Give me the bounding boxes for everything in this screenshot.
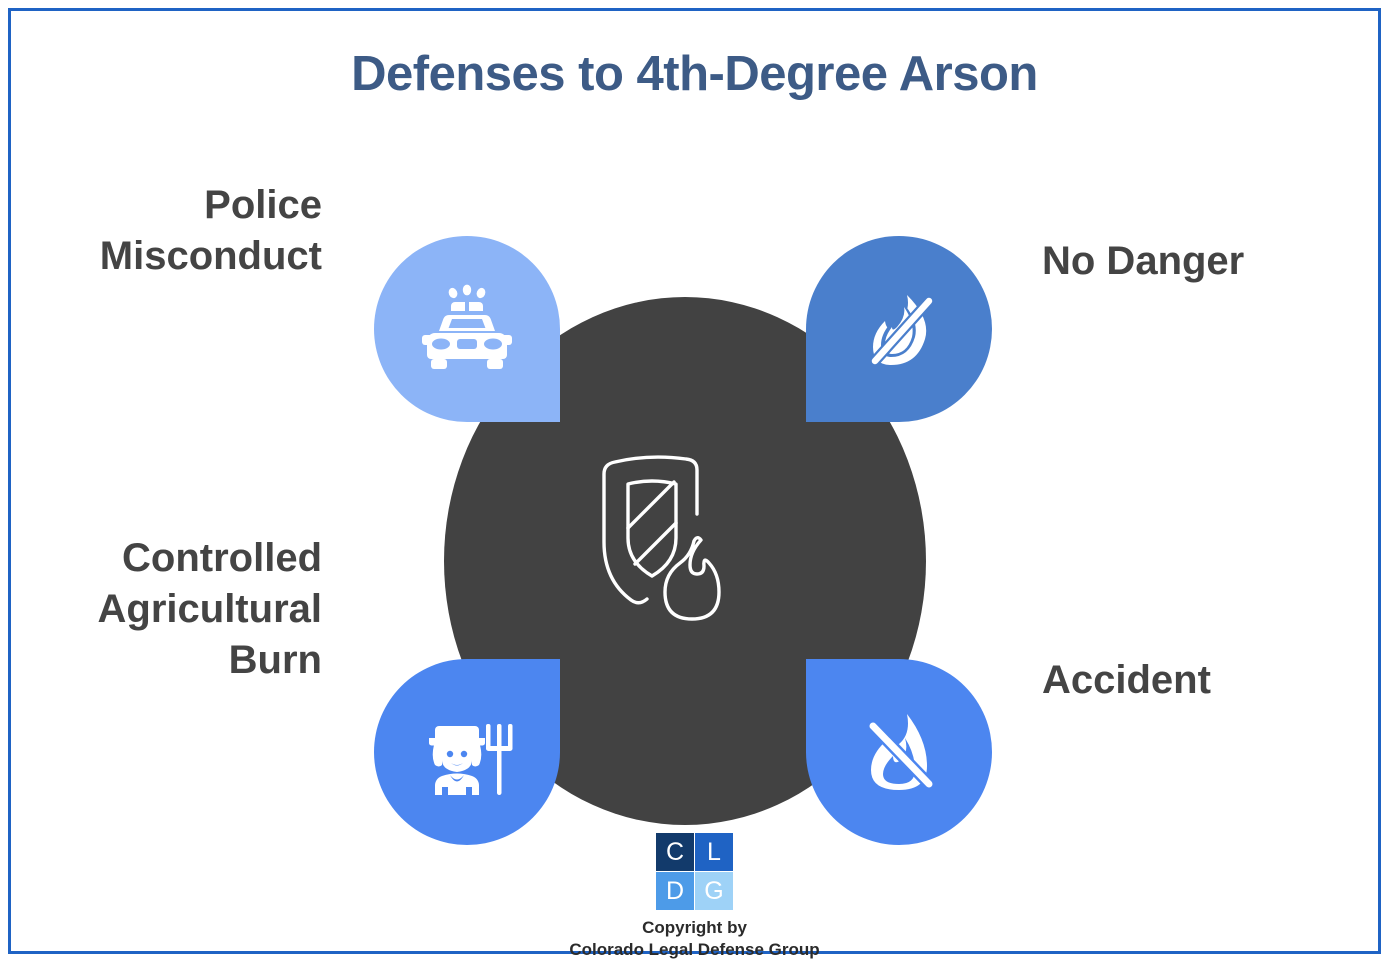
defense-bubble-no-danger[interactable] bbox=[806, 236, 992, 422]
copyright-text: Copyright by Colorado Legal Defense Grou… bbox=[569, 917, 819, 961]
logo-cell-c: C bbox=[656, 833, 694, 871]
no-flame-slash-icon bbox=[851, 281, 947, 377]
defense-bubble-controlled-agricultural-burn[interactable] bbox=[374, 659, 560, 845]
logo-cell-l: L bbox=[695, 833, 733, 871]
shield-with-flame-icon bbox=[573, 442, 788, 652]
defense-label-accident: Accident bbox=[1042, 655, 1372, 706]
police-car-icon bbox=[419, 281, 515, 377]
defense-label-no-danger: No Danger bbox=[1042, 236, 1372, 287]
logo-cell-g: G bbox=[695, 872, 733, 910]
defense-bubble-police-misconduct[interactable] bbox=[374, 236, 560, 422]
cldg-logo: C L D G bbox=[656, 833, 733, 910]
logo-cell-d: D bbox=[656, 872, 694, 910]
infographic-canvas: Defenses to 4th-Degree Arson bbox=[0, 0, 1389, 962]
footer: C L D G Copyright by Colorado Legal Defe… bbox=[0, 833, 1389, 961]
defense-label-police-misconduct: Police Misconduct bbox=[18, 180, 322, 282]
page-title: Defenses to 4th-Degree Arson bbox=[0, 46, 1389, 102]
farmer-pitchfork-icon bbox=[419, 704, 515, 800]
fire-slash-icon bbox=[851, 704, 947, 800]
defense-label-controlled-agricultural-burn: Controlled Agricultural Burn bbox=[18, 533, 322, 687]
defense-bubble-accident[interactable] bbox=[806, 659, 992, 845]
